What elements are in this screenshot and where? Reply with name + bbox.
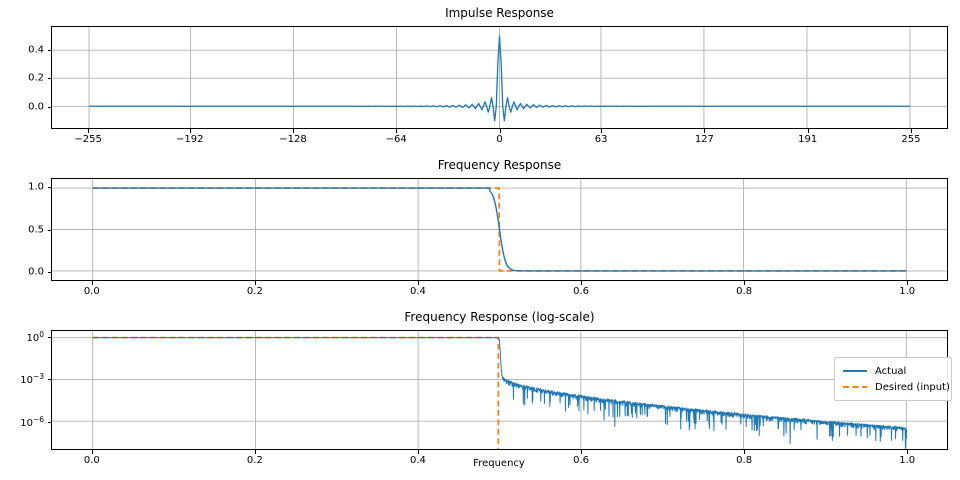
x-tick-mark (92, 281, 93, 285)
x-tick-label: 255 (901, 134, 920, 145)
x-tick-label: 1.0 (899, 286, 915, 297)
x-tick-mark (500, 129, 501, 133)
x-tick-label: 0.8 (736, 455, 752, 466)
x-tick-label: 0.0 (84, 286, 100, 297)
x-tick-label: 0.0 (84, 455, 100, 466)
x-tick-mark (255, 281, 256, 285)
y-tick-mark (48, 78, 52, 79)
x-tick-label: 0.2 (247, 455, 263, 466)
x-tick-label: 0.2 (247, 286, 263, 297)
x-tick-label: 63 (595, 134, 608, 145)
y-tick-label: 10−3 (0, 372, 44, 386)
x-tick-label: 0.4 (410, 286, 426, 297)
legend-label-actual: Actual (875, 366, 906, 377)
y-tick-mark (48, 107, 52, 108)
x-tick-mark (907, 450, 908, 454)
x-tick-mark (88, 129, 89, 133)
x-tick-mark (581, 281, 582, 285)
frequency-response-axes (51, 178, 948, 281)
y-tick-label: 1.0 (0, 182, 44, 193)
legend-item-actual: Actual (842, 363, 944, 379)
legend-line-dashed-icon (842, 381, 868, 393)
x-tick-mark (396, 129, 397, 133)
legend-label-desired: Desired (input) (875, 382, 950, 393)
x-tick-mark (418, 450, 419, 454)
legend-item-desired: Desired (input) (842, 379, 944, 395)
y-tick-mark (48, 50, 52, 51)
x-tick-mark (92, 450, 93, 454)
x-tick-mark (190, 129, 191, 133)
x-tick-label: −192 (176, 134, 203, 145)
x-tick-mark (255, 450, 256, 454)
frequency-response-log-axes (51, 330, 948, 450)
x-tick-mark (581, 450, 582, 454)
y-tick-label: 10−6 (0, 415, 44, 429)
x-tick-label: 0.6 (573, 455, 589, 466)
x-tick-label: 0.6 (573, 286, 589, 297)
x-tick-label: 191 (798, 134, 817, 145)
y-tick-label: 0.0 (0, 266, 44, 277)
x-tick-label: −255 (74, 134, 101, 145)
x-tick-mark (601, 129, 602, 133)
y-tick-mark (48, 272, 52, 273)
y-tick-label: 100 (0, 330, 44, 344)
y-tick-label: 0.5 (0, 224, 44, 235)
x-tick-label: 1.0 (899, 455, 915, 466)
legend: Actual Desired (input) (834, 357, 952, 401)
x-tick-mark (907, 281, 908, 285)
x-tick-mark (293, 129, 294, 133)
y-tick-mark (48, 422, 52, 423)
impulse-response-axes (51, 26, 948, 129)
y-tick-mark (48, 187, 52, 188)
x-tick-mark (808, 129, 809, 133)
matplotlib-figure: Impulse Response −255−192−128−6406312719… (0, 0, 960, 480)
x-tick-label: −64 (386, 134, 407, 145)
x-axis-label: Frequency (473, 458, 525, 469)
legend-line-solid-icon (842, 365, 868, 377)
frequency-response-title: Frequency Response (51, 158, 948, 172)
y-tick-mark (48, 337, 52, 338)
impulse-response-plot (52, 27, 947, 128)
x-tick-mark (744, 281, 745, 285)
impulse-response-title: Impulse Response (51, 6, 948, 20)
x-tick-label: 0.4 (410, 455, 426, 466)
x-tick-label: 0.8 (736, 286, 752, 297)
x-tick-label: 127 (695, 134, 714, 145)
x-tick-mark (744, 450, 745, 454)
y-tick-label: 0.0 (0, 101, 44, 112)
y-tick-label: 0.2 (0, 73, 44, 84)
x-tick-label: −128 (279, 134, 306, 145)
x-tick-mark (704, 129, 705, 133)
y-tick-mark (48, 230, 52, 231)
x-tick-mark (911, 129, 912, 133)
x-tick-label: 0 (496, 134, 502, 145)
frequency-response-log-plot (52, 331, 947, 449)
frequency-response-log-title: Frequency Response (log-scale) (51, 310, 948, 324)
x-tick-mark (418, 281, 419, 285)
frequency-response-plot (52, 179, 947, 280)
y-tick-mark (48, 379, 52, 380)
y-tick-label: 0.4 (0, 44, 44, 55)
